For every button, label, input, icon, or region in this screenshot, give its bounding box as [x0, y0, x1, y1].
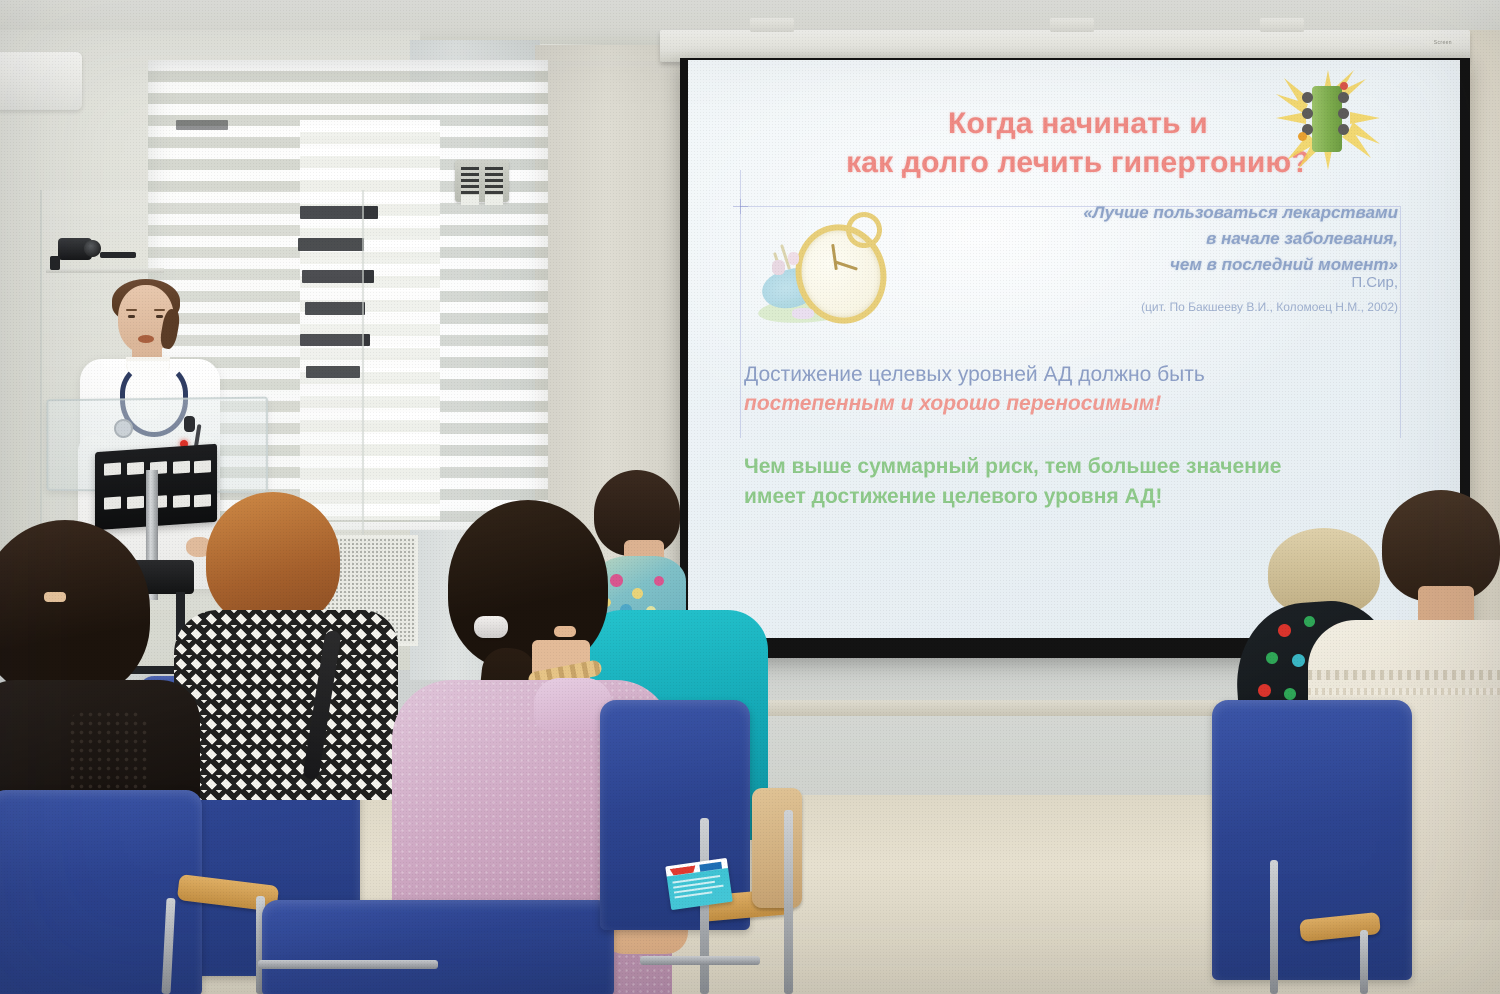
slide-quote-author: П.Сир, [978, 274, 1398, 291]
camera-grip [50, 256, 60, 270]
presenter-mouth [138, 335, 154, 343]
air-conditioner [0, 52, 82, 110]
sweater-pattern-band [1308, 670, 1500, 680]
presenter-eye [128, 315, 135, 318]
switch-rocker[interactable] [485, 167, 503, 195]
light-switch[interactable] [455, 160, 509, 202]
chair-armrest[interactable] [752, 788, 802, 908]
lace-pattern [68, 710, 148, 800]
pill-starburst-icon [1276, 70, 1380, 170]
camera-mount-arm [100, 252, 136, 258]
slide-guide-crosshair [733, 199, 748, 214]
pocket-watch-icon [750, 208, 900, 328]
chair-frame-rail [258, 960, 438, 969]
sweater-pattern-band [1308, 688, 1500, 695]
slide-quote-line2: в начале заболевания, [1206, 229, 1398, 248]
blind-slat [176, 120, 228, 130]
slide-quote-line1: «Лучше пользоваться лекарствами [1083, 203, 1398, 222]
hair-clip [474, 616, 508, 638]
camera-lens-icon [84, 240, 101, 257]
microphone-head-icon [184, 416, 195, 432]
leaflet-logo-mark [670, 865, 697, 876]
slide-body1-line1: Достижение целевых уровней АД должно быт… [744, 363, 1205, 386]
presenter-eye [156, 315, 163, 318]
screen-bracket [750, 18, 794, 32]
slide-body2-line1: Чем выше суммарный риск, тем большее зна… [744, 455, 1281, 478]
slide-body1-line2: постепенным и хорошо переносимым! [744, 389, 1434, 418]
slide-body2-line2: имеет достижение целевого уровня АД! [744, 485, 1162, 508]
slide-title-line1: Когда начинать и [948, 107, 1208, 140]
chair-frame-rail [1360, 930, 1368, 994]
slide-quote-line3: чем в последний момент» [1170, 255, 1398, 274]
slide-body-first: Достижение целевых уровней АД должно быт… [744, 360, 1434, 419]
switch-rocker[interactable] [461, 167, 479, 195]
chair-frame-rail [640, 956, 760, 965]
attendee-ear [554, 626, 576, 637]
screen-brand-label: Screen [1434, 40, 1452, 46]
screen-bracket [1260, 18, 1304, 32]
chair-frame-rail [1270, 860, 1278, 994]
chair-frame-rail [784, 810, 793, 994]
chair-frame-rail [700, 818, 709, 994]
chair-back[interactable] [262, 900, 614, 994]
equipment-shelf [46, 268, 164, 273]
screen-bracket [1050, 18, 1094, 32]
lecture-hall-photo: Screen Когда начинать и как долго лечить… [0, 0, 1500, 994]
slide-citation: (цит. По Бакшееву В.И., Коломоец Н.М., 2… [948, 300, 1398, 314]
attendee-hair [0, 520, 150, 698]
leaflet-logo-text [699, 862, 722, 872]
information-leaflet[interactable] [665, 858, 733, 910]
attendee-ear [44, 592, 66, 602]
slide-quote: «Лучше пользоваться лекарствами в начале… [978, 200, 1398, 277]
